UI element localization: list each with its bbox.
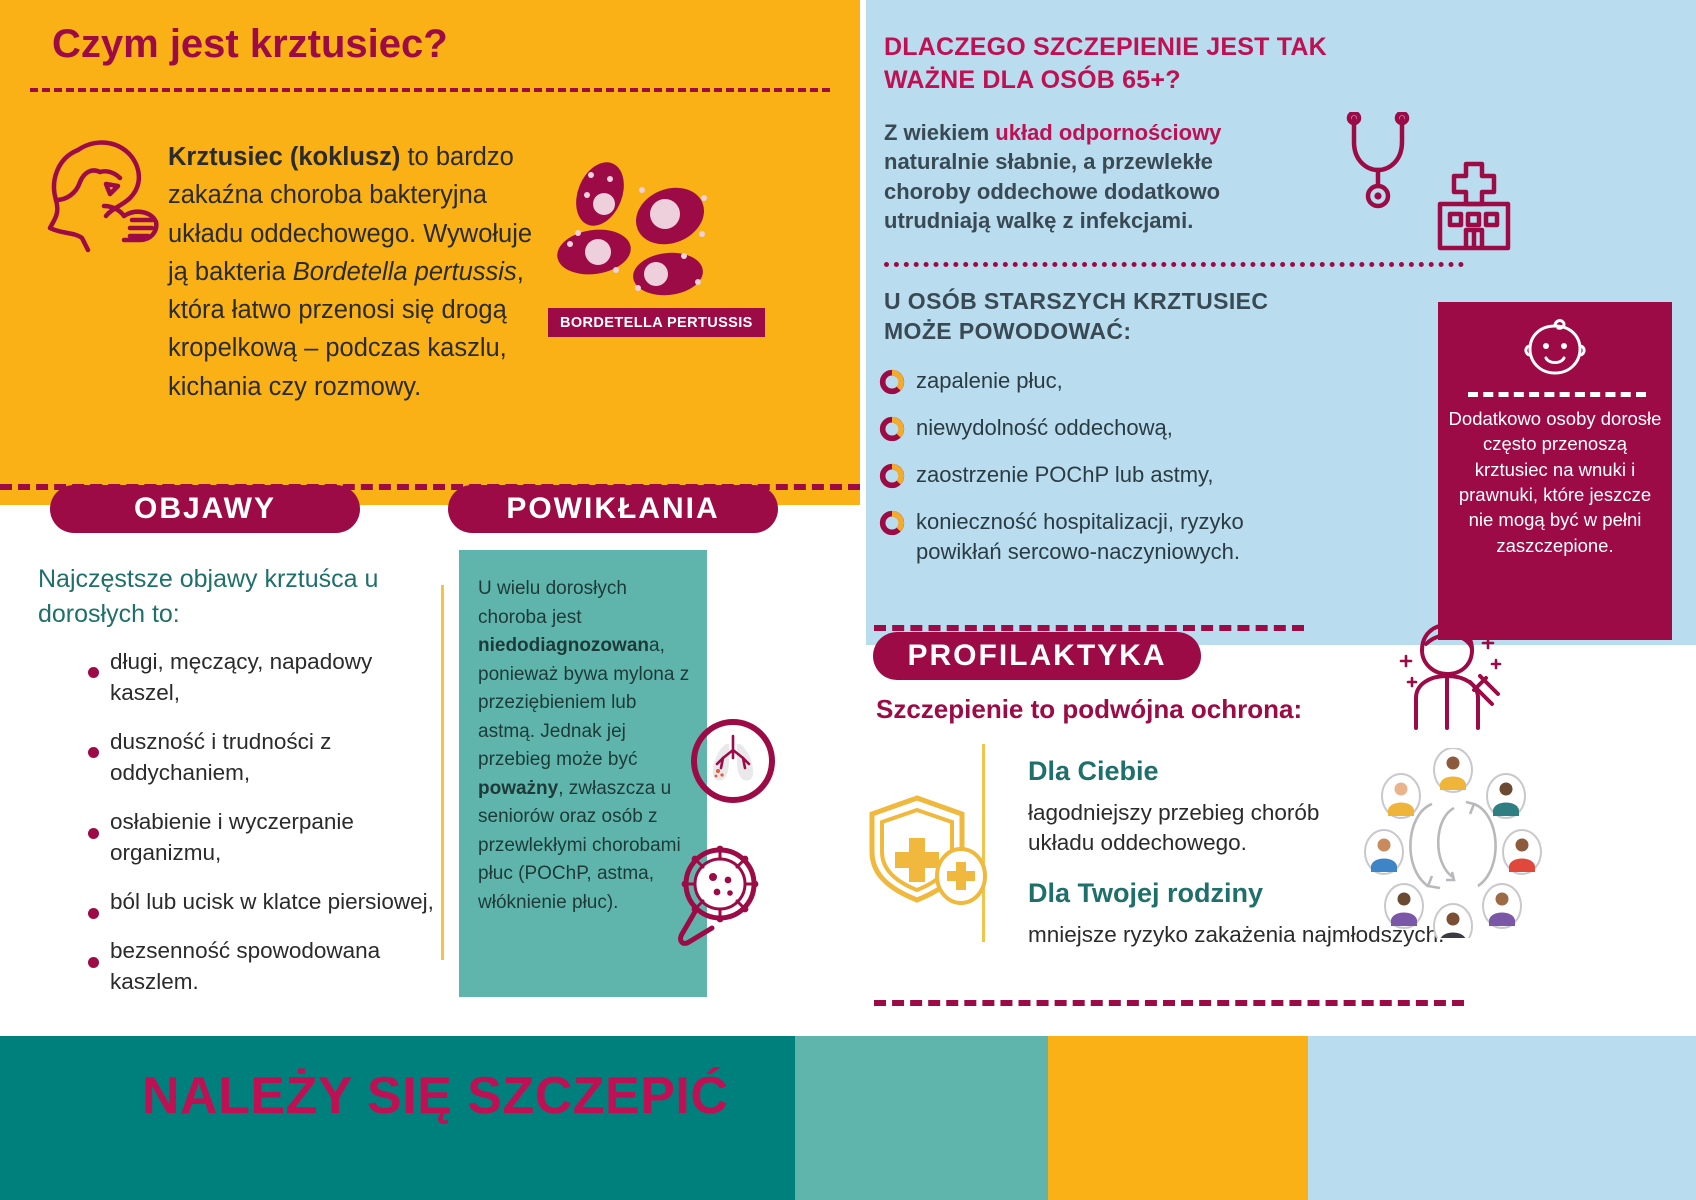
intro-paragraph: Krztusiec (koklusz) to bardzo zakaźna ch… [168,138,548,406]
hospital-icon [1430,160,1518,252]
coughing-person-icon [40,128,160,253]
list-item: zaostrzenie POChP lub astmy, [878,460,1318,490]
list-item: duszność i trudności z oddychaniem, [84,726,444,788]
list-item: osłabienie i wyczerpanie organizmu, [84,806,444,868]
complications-title: U OSÓB STARSZYCH KRZTUSIEC MOŻE POWODOWA… [884,286,1334,347]
vaccinated-person-icon [1388,620,1506,736]
stethoscope-icon [1342,112,1422,217]
community-circle-icon [1358,748,1548,938]
shield-plus-icon [862,790,992,910]
powik-b2: poważny [478,778,558,799]
grandchildren-callout-text: Dodatkowo osoby dorosłe często przenoszą… [1446,406,1664,558]
vertical-rule-objawy [441,585,444,960]
intro-bold-lead: Krztusiec (koklusz) [168,143,400,171]
powiklania-paragraph: U wielu dorosłych choroba jest niedodiag… [478,575,696,917]
ring-bullet-icon [878,415,906,443]
benefit-body: łagodniejszy przebieg chorób układu odde… [1028,798,1388,859]
divider-dashed-profilaktyka [874,1000,1464,1006]
why-highlight: układ odpornościowy [995,120,1221,145]
baby-face-icon [1522,318,1588,380]
footer-segment-light-blue [1308,1036,1696,1200]
complication-label: zaostrzenie POChP lub astmy, [916,460,1214,490]
divider-dashed-blue-bottom [874,625,1304,631]
list-item: długi, męczący, napadowy kaszel, [84,646,444,708]
divider-dotted [884,262,1464,267]
section-pill-powiklania: POWIKŁANIA [448,485,778,533]
divider-dashed-top [30,88,830,92]
footer-segment-yellow [1048,1036,1308,1200]
bacteria-icon [552,160,742,300]
why-vaccinate-title: DLACZEGO SZCZEPIENIE JEST TAK WAŻNE DLA … [884,31,1354,96]
list-item: niewydolność oddechową, [878,413,1318,443]
complication-label: konieczność hospitalizacji, ryzyko powik… [916,507,1318,566]
profilaktyka-subtitle: Szczepienie to podwójna ochrona: [876,694,1396,725]
objawy-lead: Najczęstsze objawy krztuśca u dorosłych … [38,562,438,632]
infographic-root: Czym jest krztusiec? Krztusiec (koklusz)… [0,0,1696,1200]
complications-list: zapalenie płuc, niewydolność oddechową, … [878,366,1318,583]
list-item: ból lub ucisk w klatce piersiowej, [84,886,444,917]
divider-dashed-white [1468,392,1646,397]
complication-label: zapalenie płuc, [916,366,1063,396]
objawy-list: długi, męczący, napadowy kaszel, dusznoś… [84,646,444,1015]
section-pill-objawy: OBJAWY [50,485,360,533]
benefit-heading: Dla Ciebie [1028,756,1159,787]
why-p2: naturalnie słabnie, a przewlekłe choroby… [884,149,1220,233]
page-title: Czym jest krztusiec? [52,22,448,67]
ring-bullet-icon [878,509,906,537]
intro-italic-species: Bordetella pertussis [293,258,517,286]
why-vaccinate-body: Z wiekiem układ odpornościowy naturalnie… [884,118,1304,235]
bacteria-label: BORDETELLA PERTUSSIS [548,308,765,337]
lungs-icon [690,718,776,804]
powik-b1: niedodiagnozowan [478,635,649,656]
section-pill-profilaktyka: PROFILAKTYKA [873,632,1201,680]
footer-slogan: NALEŻY SIĘ SZCZEPIĆ [142,1066,728,1126]
list-item: konieczność hospitalizacji, ryzyko powik… [878,507,1318,566]
powik-p1: U wielu dorosłych choroba jest [478,578,627,628]
list-item: zapalenie płuc, [878,366,1318,396]
virus-magnifier-icon [672,842,780,950]
ring-bullet-icon [878,462,906,490]
benefit-heading: Dla Twojej rodziny [1028,878,1263,909]
why-p1: Z wiekiem [884,120,995,145]
ring-bullet-icon [878,368,906,396]
list-item: bezsenność spowodowana kaszlem. [84,935,444,997]
footer-bar: NALEŻY SIĘ SZCZEPIĆ [0,1036,1696,1200]
footer-segment-light-teal [795,1036,1048,1200]
complication-label: niewydolność oddechową, [916,413,1173,443]
